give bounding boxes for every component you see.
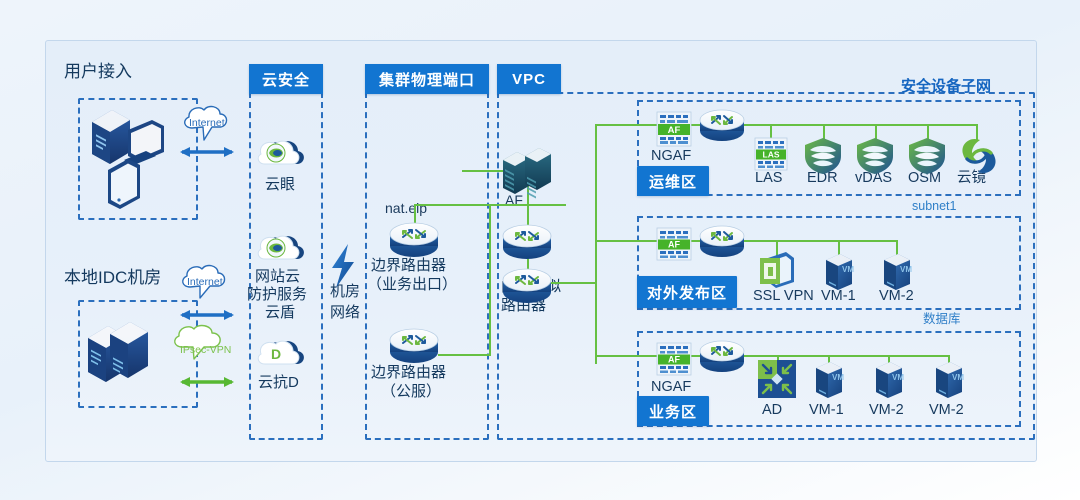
- router-icon-vpc-upper: [503, 225, 551, 259]
- vm-icon-z3-2: VM: [876, 362, 904, 398]
- shield-icon-osm: [909, 138, 945, 174]
- vm-icon-z2-2: VM: [884, 254, 912, 290]
- router-icon-zone3: [700, 341, 744, 372]
- header-vpc[interactable]: VPC: [497, 64, 561, 94]
- cloud-shield-icon: [258, 236, 304, 259]
- ngaf-appliance-icon-zone2: AF: [657, 228, 691, 260]
- ngaf-appliance-icon-zone3: AF: [657, 343, 691, 375]
- header-cloud-security[interactable]: 云安全: [249, 64, 323, 94]
- router-icon-border-public: [390, 329, 438, 363]
- zone-chip-public[interactable]: 对外发布区: [637, 276, 737, 308]
- svg-text:VM: VM: [842, 265, 854, 274]
- router-icon-vpc-internal: [503, 269, 551, 303]
- svg-text:D: D: [271, 346, 281, 362]
- ad-icon: [758, 360, 796, 398]
- svg-text:LAS: LAS: [763, 150, 780, 160]
- lightning-bolt-icon: [332, 244, 354, 288]
- router-icon-zone1: [700, 110, 744, 141]
- ipsec-vpn-arrow: [180, 377, 234, 387]
- label-internet-2: Internet: [187, 276, 223, 288]
- zone-chip-business[interactable]: 业务区: [637, 396, 709, 426]
- svg-text:AF: AF: [668, 355, 680, 365]
- cloud-d-icon: D: [258, 341, 304, 364]
- svg-text:VM: VM: [832, 373, 844, 382]
- cloud-mirror-icon: [962, 139, 995, 173]
- diagram-canvas: D: [0, 0, 1080, 500]
- svg-text:VM: VM: [952, 373, 964, 382]
- ngaf-appliance-icon-zone1: AF: [657, 112, 691, 146]
- router-icon-zone2: [700, 226, 744, 257]
- label-internet-1: Internet: [189, 117, 225, 129]
- idc-server-icon: [88, 322, 148, 382]
- shield-icon-vdas: [857, 138, 893, 174]
- vm-icon-z3-1: VM: [816, 362, 844, 398]
- desktop-computer-icon: [92, 110, 164, 209]
- internet-arrow-2: [180, 310, 234, 320]
- cloud-eye-icon: [258, 141, 304, 164]
- internet-arrow-1: [180, 147, 234, 157]
- svg-text:AF: AF: [668, 240, 680, 250]
- label-ipsec-vpn: IPsec-VPN: [180, 344, 231, 356]
- vm-icon-z3-3: VM: [936, 362, 964, 398]
- svg-text:VM: VM: [892, 373, 904, 382]
- las-appliance-icon: LAS: [755, 138, 787, 170]
- svg-text:AF: AF: [668, 125, 681, 136]
- shield-icon-edr: [805, 138, 841, 174]
- router-icon-border-business: [390, 223, 438, 257]
- zone-chip-ops[interactable]: 运维区: [637, 166, 709, 196]
- header-cluster-port[interactable]: 集群物理端口: [365, 64, 489, 94]
- vm-icon-z2-1: VM: [826, 254, 854, 290]
- firewall-stack-icon: [503, 148, 551, 199]
- ssl-vpn-icon: [760, 252, 794, 288]
- svg-text:VM: VM: [900, 265, 912, 274]
